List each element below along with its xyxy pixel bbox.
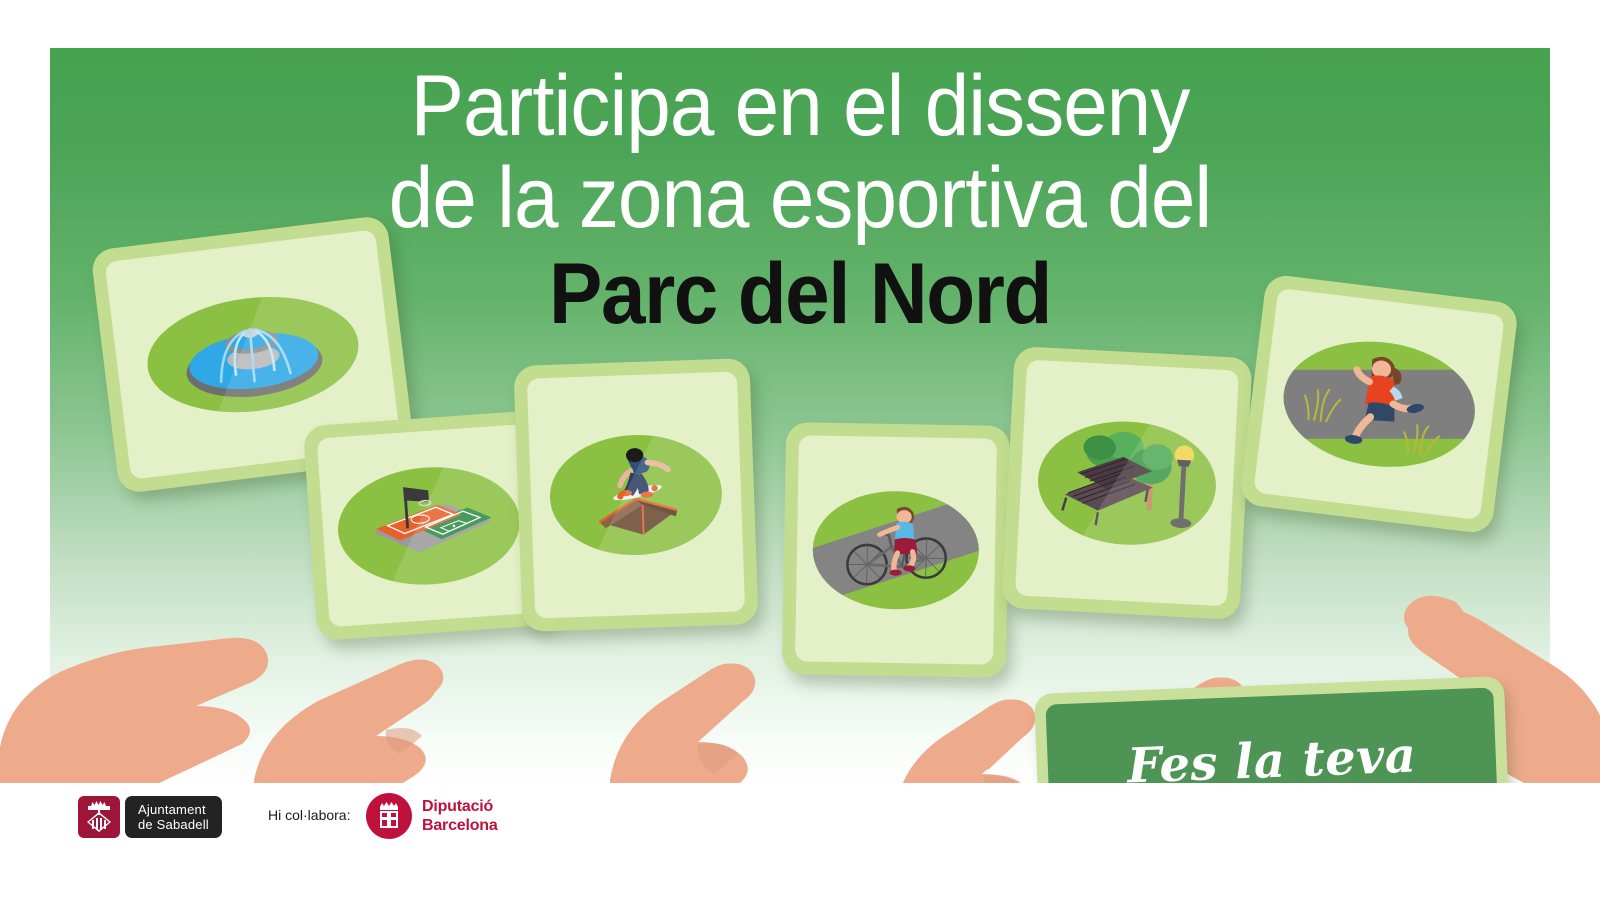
logo-ajuntament-sabadell[interactable]: Ajuntament de Sabadell <box>78 796 222 838</box>
sabadell-crest-glyph <box>84 800 114 834</box>
tree-icon <box>1127 443 1173 512</box>
park-bench-icon <box>1035 417 1219 549</box>
logo-diputacio-barcelona[interactable]: Diputació Barcelona <box>366 793 498 839</box>
bench-seat <box>1062 454 1155 528</box>
diputacio-line-1: Diputació <box>422 797 498 816</box>
sabadell-crest-icon <box>78 796 120 838</box>
footer: Ajuntament de Sabadell Hi col·labora: <box>0 783 1600 900</box>
sabadell-line-1: Ajuntament <box>138 802 209 817</box>
lamppost-icon <box>1170 445 1195 529</box>
sabadell-line-2: de Sabadell <box>138 817 209 832</box>
bench-lawn <box>1035 417 1219 549</box>
collaborator-label: Hi col·labora: <box>268 807 350 823</box>
diputacio-line-2: Barcelona <box>422 816 498 835</box>
tree-icon <box>1081 430 1144 502</box>
grass-tuft-icon <box>1302 386 1342 423</box>
sabadell-name-box: Ajuntament de Sabadell <box>125 796 222 838</box>
diputacio-crest-glyph <box>374 800 404 832</box>
diputacio-crest-icon <box>366 793 412 839</box>
diputacio-name-box: Diputació Barcelona <box>422 797 498 835</box>
poster-canvas: Participa en el disseny de la zona espor… <box>0 0 1600 900</box>
